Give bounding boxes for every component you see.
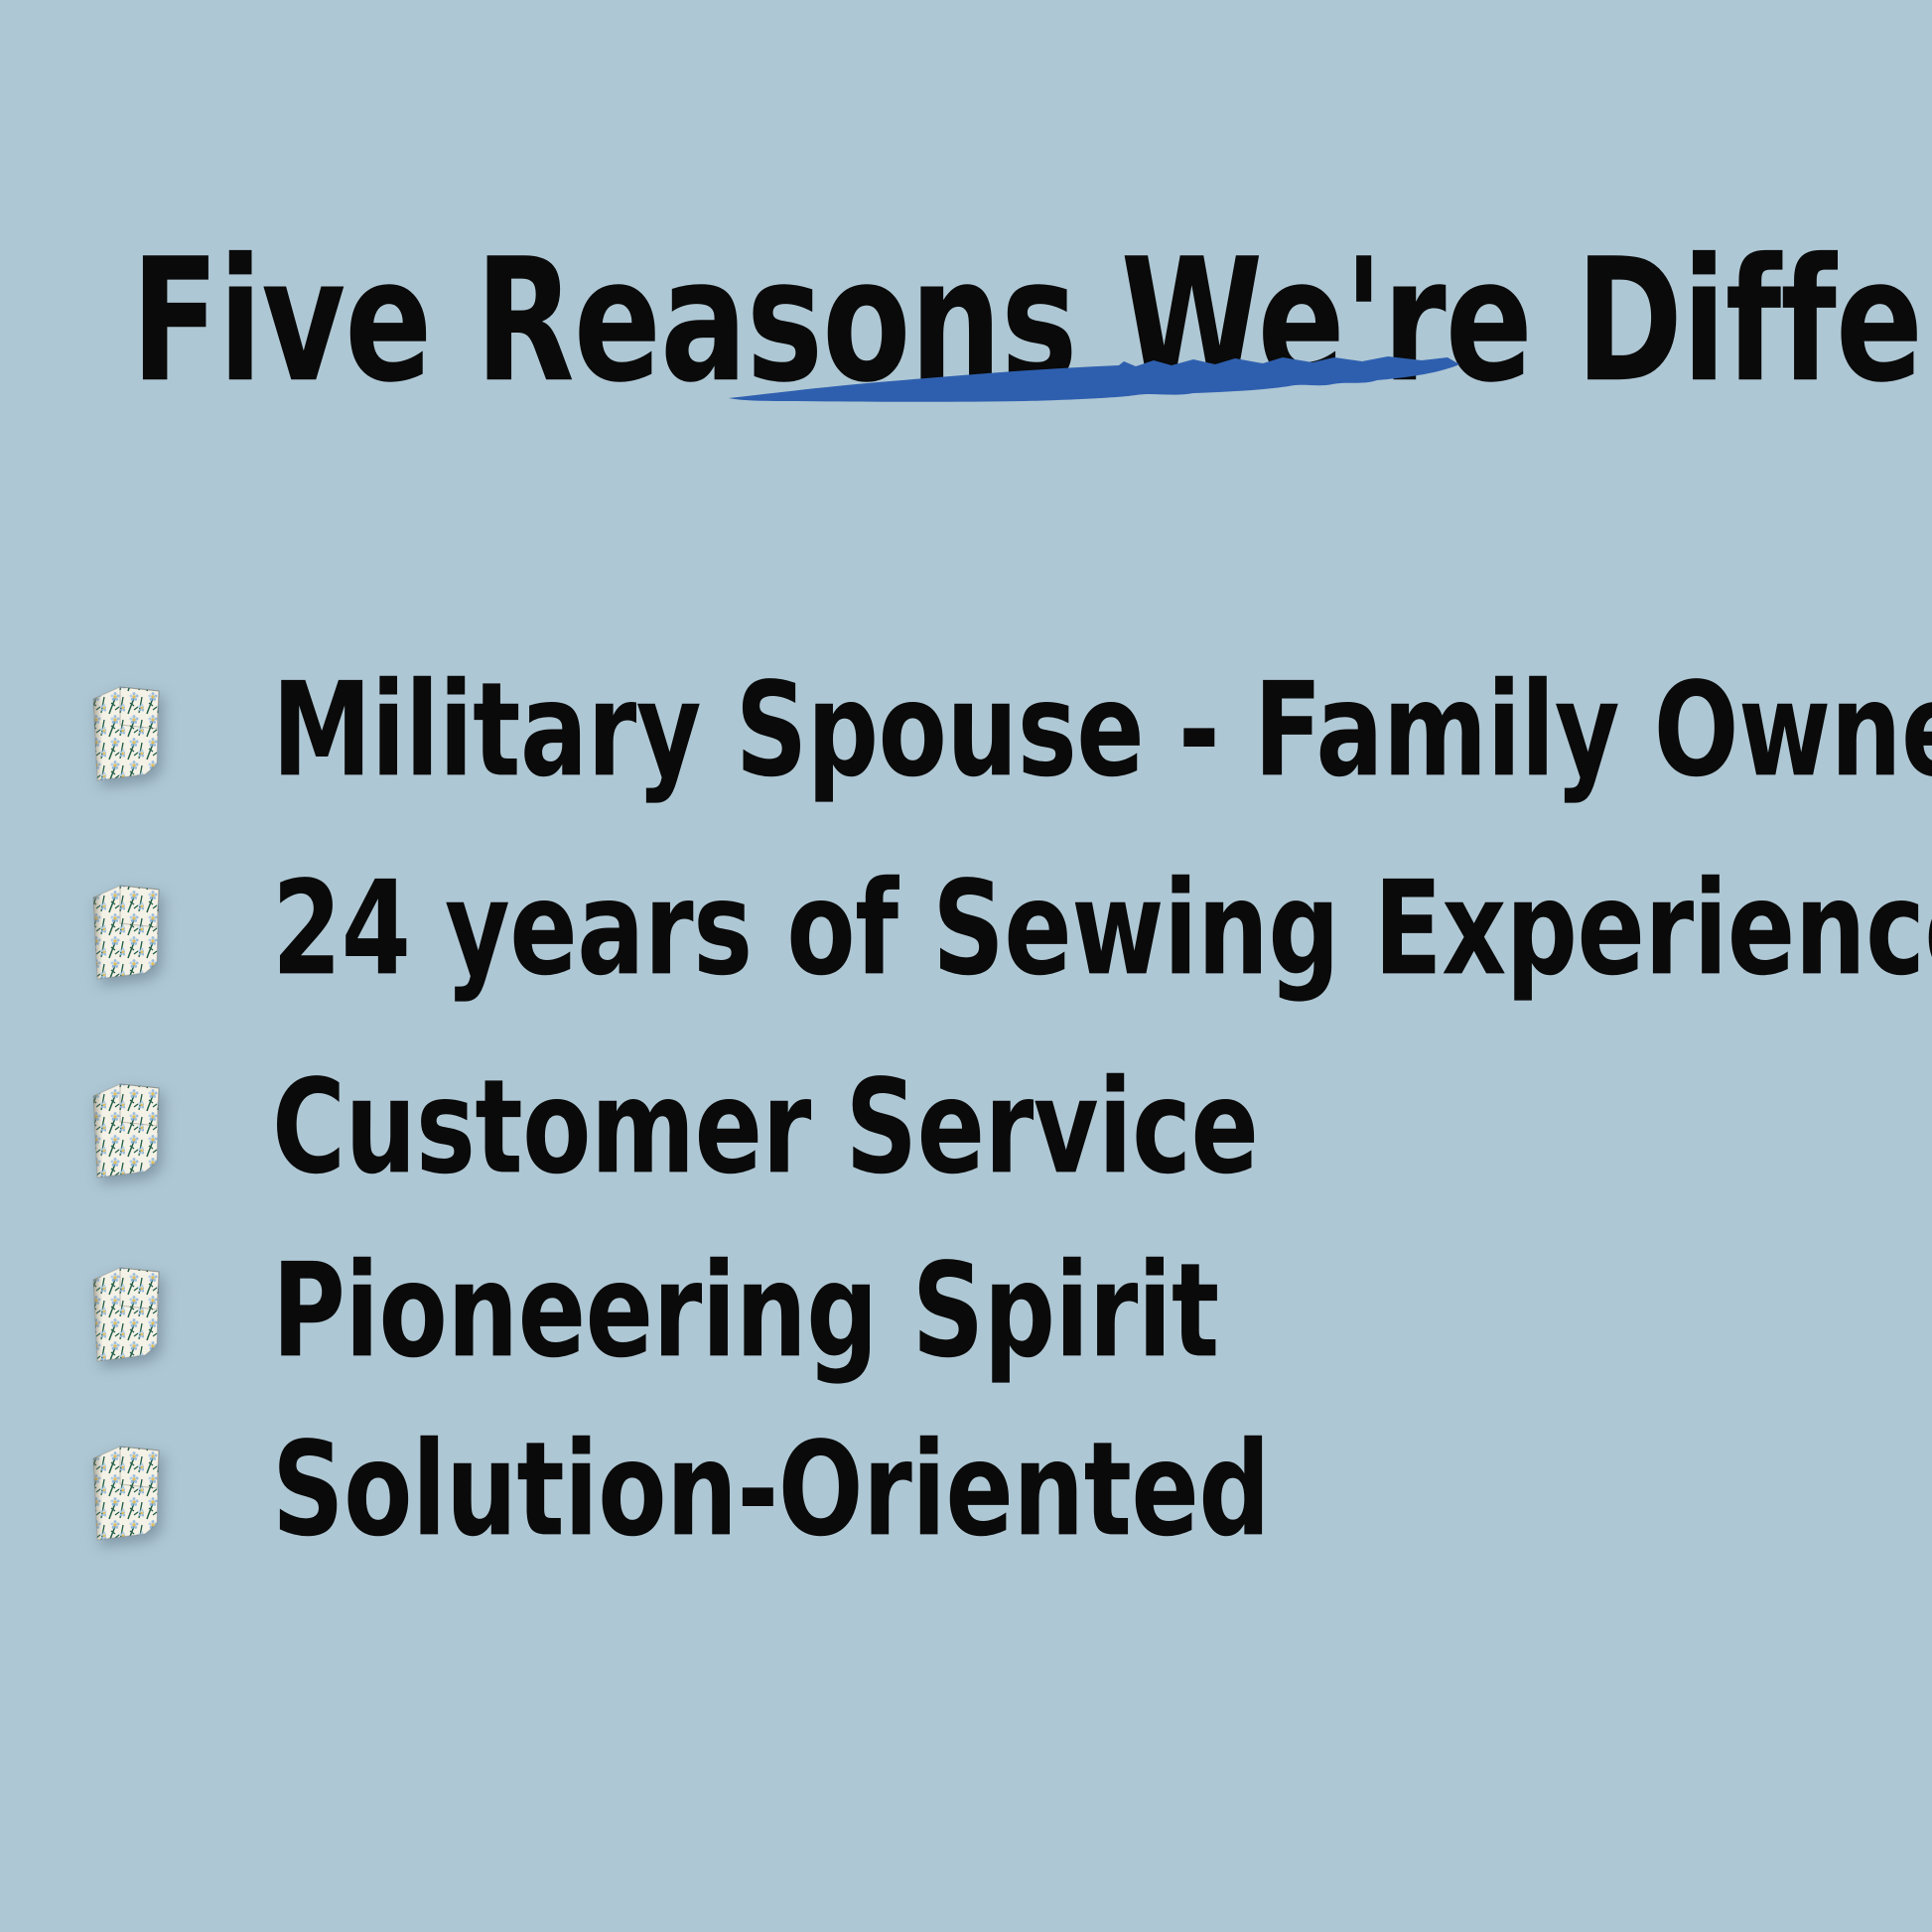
floral-fabric-icon: [87, 1066, 163, 1187]
reason-label: 24 years of Sewing Experience: [272, 863, 1932, 993]
poster-canvas: Five Reasons We're Different: [0, 0, 1932, 1932]
reason-label: Pioneering Spirit: [272, 1245, 1219, 1375]
list-item: Solution-Oriented: [87, 1415, 1874, 1564]
list-item: Customer Service: [87, 1052, 1874, 1201]
floral-fabric-icon: [87, 669, 163, 790]
reason-label: Military Spouse - Family Owned: [272, 664, 1932, 794]
list-item: Military Spouse - Family Owned: [87, 655, 1874, 804]
list-item: Pioneering Spirit: [87, 1236, 1874, 1385]
floral-fabric-icon: [87, 868, 163, 989]
floral-fabric-icon: [87, 1250, 163, 1371]
reason-label: Solution-Oriented: [272, 1424, 1270, 1554]
list-item: 24 years of Sewing Experience: [87, 854, 1874, 1003]
floral-fabric-icon: [87, 1429, 163, 1550]
reasons-list: Military Spouse - Family Owned 24 years …: [0, 0, 1932, 1932]
reason-label: Customer Service: [272, 1061, 1258, 1191]
